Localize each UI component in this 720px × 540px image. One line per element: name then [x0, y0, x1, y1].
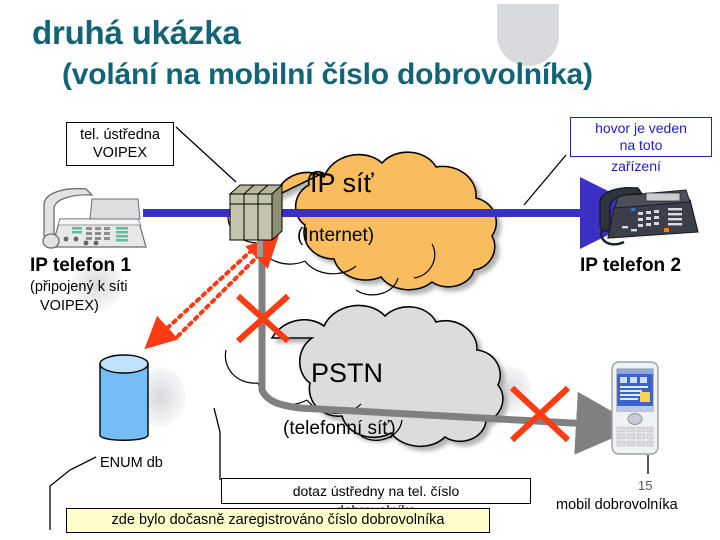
label-ip-phone-1: IP telefon 1	[30, 255, 131, 277]
pstn-cloud-subtitle: (telefonní síť)	[283, 418, 396, 440]
ip-cloud-title: IP síť	[310, 168, 374, 199]
label-ip-phone-1-sub-line1: (připojený k síti	[30, 278, 128, 297]
pbx-server-icon	[226, 180, 286, 252]
callout-enum-registration: zde bylo dočasně zaregistrováno číslo do…	[66, 508, 490, 533]
slide-number: 15	[638, 478, 652, 493]
label-ip-phone-1-sub-line2: VOIPEX)	[30, 297, 128, 316]
callout-pbx-query: dotaz ústředny na tel. číslo	[221, 478, 531, 504]
label-mobile: mobil dobrovolníka	[556, 497, 678, 513]
callout-pbx-line2: VOIPEX	[73, 144, 167, 162]
label-ip-phone-1-sub: (připojený k síti VOIPEX)	[30, 278, 128, 316]
ip-cloud-subtitle: (Internet)	[297, 225, 374, 247]
enum-query-arrows	[162, 250, 262, 336]
enum-database-icon	[98, 352, 150, 447]
label-enum-db: ENUM db	[100, 455, 163, 471]
callout-pbx: tel. ústředna VOIPEX	[66, 122, 174, 166]
ip-phone-1-icon	[43, 189, 146, 248]
callout-pbx-query-line1: dotaz ústředny na tel. číslo	[228, 482, 524, 500]
callout-active-device: hovor je veden na toto	[570, 117, 712, 157]
slide-canvas: druhá ukázka (volání na mobilní číslo do…	[0, 0, 720, 540]
label-ip-phone-2: IP telefon 2	[580, 255, 681, 277]
callout-pbx-line1: tel. ústředna	[73, 126, 167, 144]
callout-active-device-line1: hovor je veden	[575, 120, 707, 137]
blocked-marker-icon-2	[512, 388, 568, 440]
ip-phone-2-icon	[600, 188, 698, 245]
callout-active-device-line3: zařízení	[570, 158, 702, 175]
mobile-phone-icon	[612, 362, 658, 454]
pstn-cloud-title: PSTN	[311, 358, 383, 389]
callout-active-device-line2: na toto	[575, 137, 707, 154]
